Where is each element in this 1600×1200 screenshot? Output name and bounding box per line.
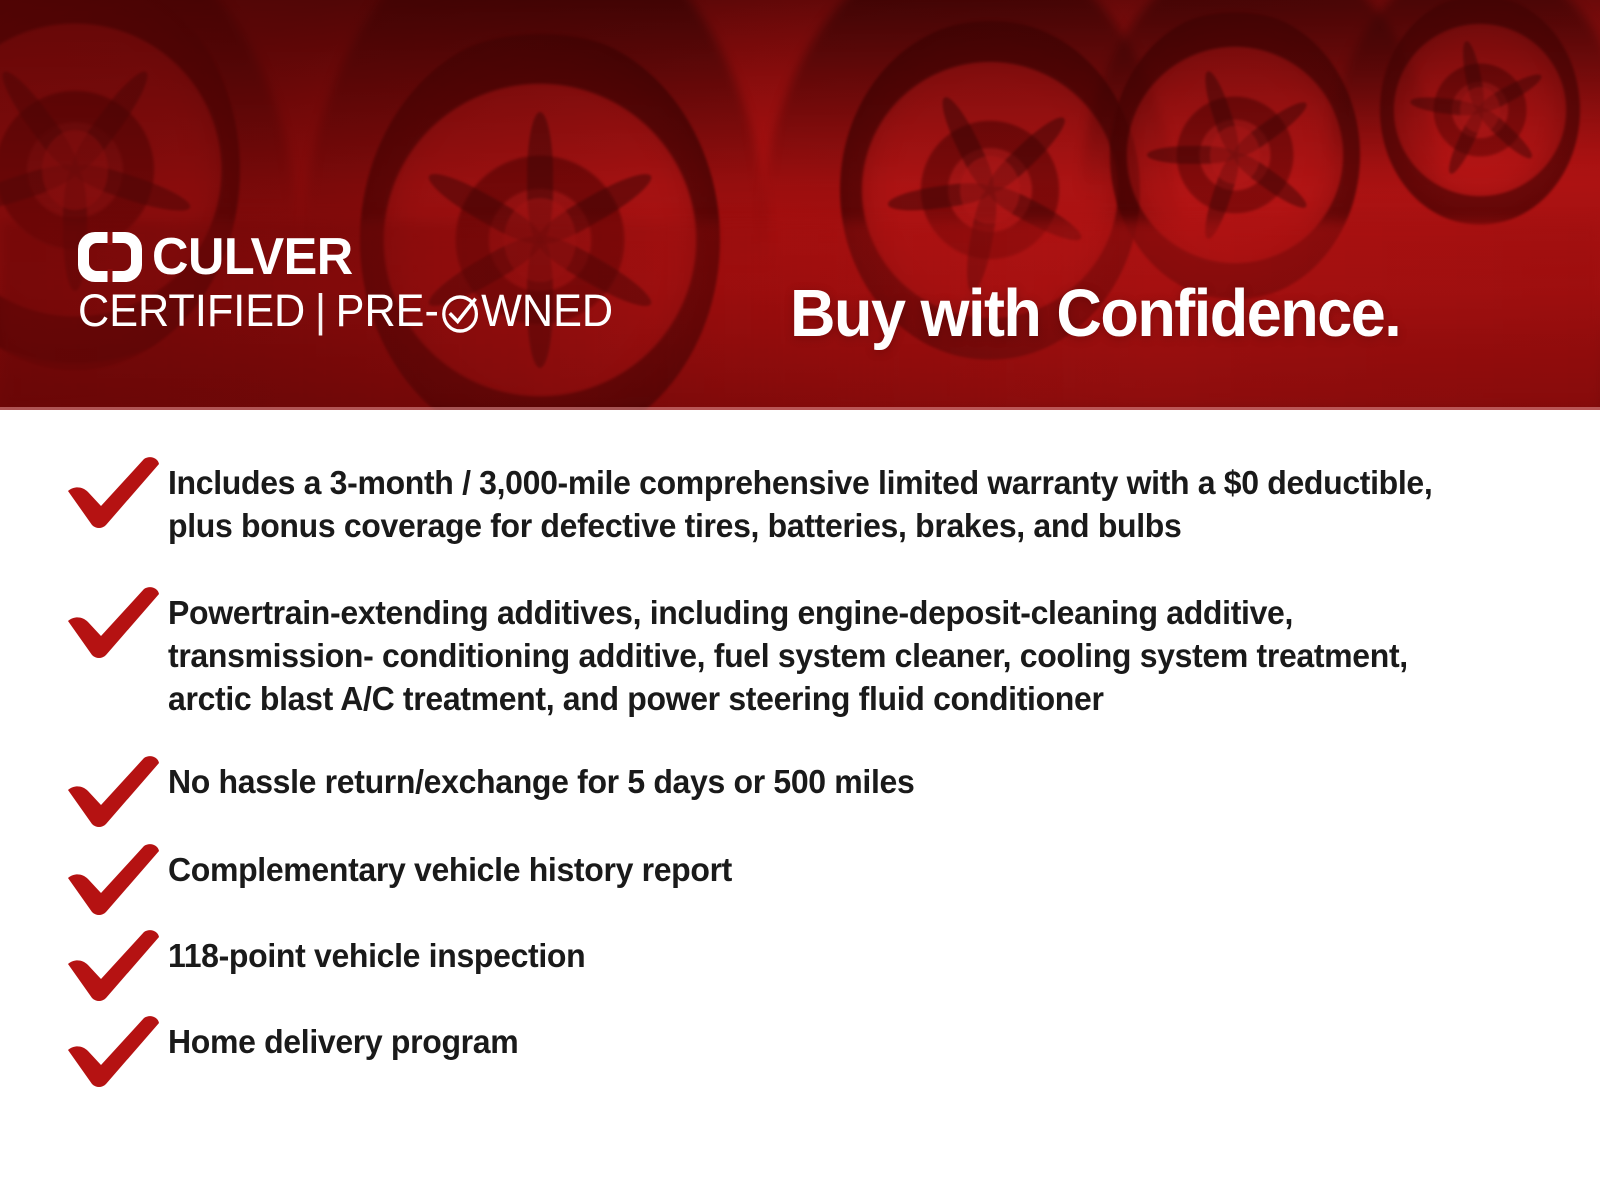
checkmark-icon (60, 1015, 168, 1087)
check-circle-icon (440, 293, 480, 335)
checkmark-icon (60, 929, 168, 1001)
culver-certified-logo: CULVER CERTIFIED | PRE- WNED (78, 232, 635, 336)
logo-wordmark-row: CULVER (78, 232, 635, 282)
logo-tagline: CERTIFIED | PRE- WNED (78, 286, 613, 336)
culver-cd-monogram-icon (78, 232, 142, 282)
benefit-item-inspection: 118-point vehicle inspection (0, 935, 1600, 1001)
benefit-text: No hassle return/exchange for 5 days or … (168, 761, 914, 804)
logo-tagline-divider: | (315, 286, 326, 336)
benefit-text: Includes a 3-month / 3,000-mile comprehe… (168, 462, 1448, 548)
benefit-item-additives: Powertrain-extending additives, includin… (0, 592, 1600, 721)
benefit-text: 118-point vehicle inspection (168, 935, 585, 978)
logo-tagline-certified: CERTIFIED (78, 286, 305, 336)
benefit-item-warranty: Includes a 3-month / 3,000-mile comprehe… (0, 462, 1600, 548)
logo-tagline-pre: PRE- (336, 286, 439, 336)
checkmark-icon (60, 456, 168, 528)
checkmark-icon (60, 586, 168, 658)
benefit-text: Powertrain-extending additives, includin… (168, 592, 1410, 721)
benefits-list: Includes a 3-month / 3,000-mile comprehe… (0, 410, 1600, 1087)
benefit-item-history-report: Complementary vehicle history report (0, 849, 1600, 915)
certified-pre-owned-flyer: CULVER CERTIFIED | PRE- WNED Buy with Co… (0, 0, 1600, 1200)
hero-headline: Buy with Confidence. (790, 278, 1400, 350)
checkmark-icon (60, 843, 168, 915)
benefit-item-home-delivery: Home delivery program (0, 1021, 1600, 1087)
checkmark-icon (60, 755, 168, 827)
logo-wordmark: CULVER (152, 232, 353, 282)
hero-banner: CULVER CERTIFIED | PRE- WNED Buy with Co… (0, 0, 1600, 410)
benefit-item-return-exchange: No hassle return/exchange for 5 days or … (0, 761, 1600, 827)
logo-tagline-owned: WNED (481, 286, 613, 336)
benefit-text: Home delivery program (168, 1021, 518, 1064)
benefit-text: Complementary vehicle history report (168, 849, 732, 892)
